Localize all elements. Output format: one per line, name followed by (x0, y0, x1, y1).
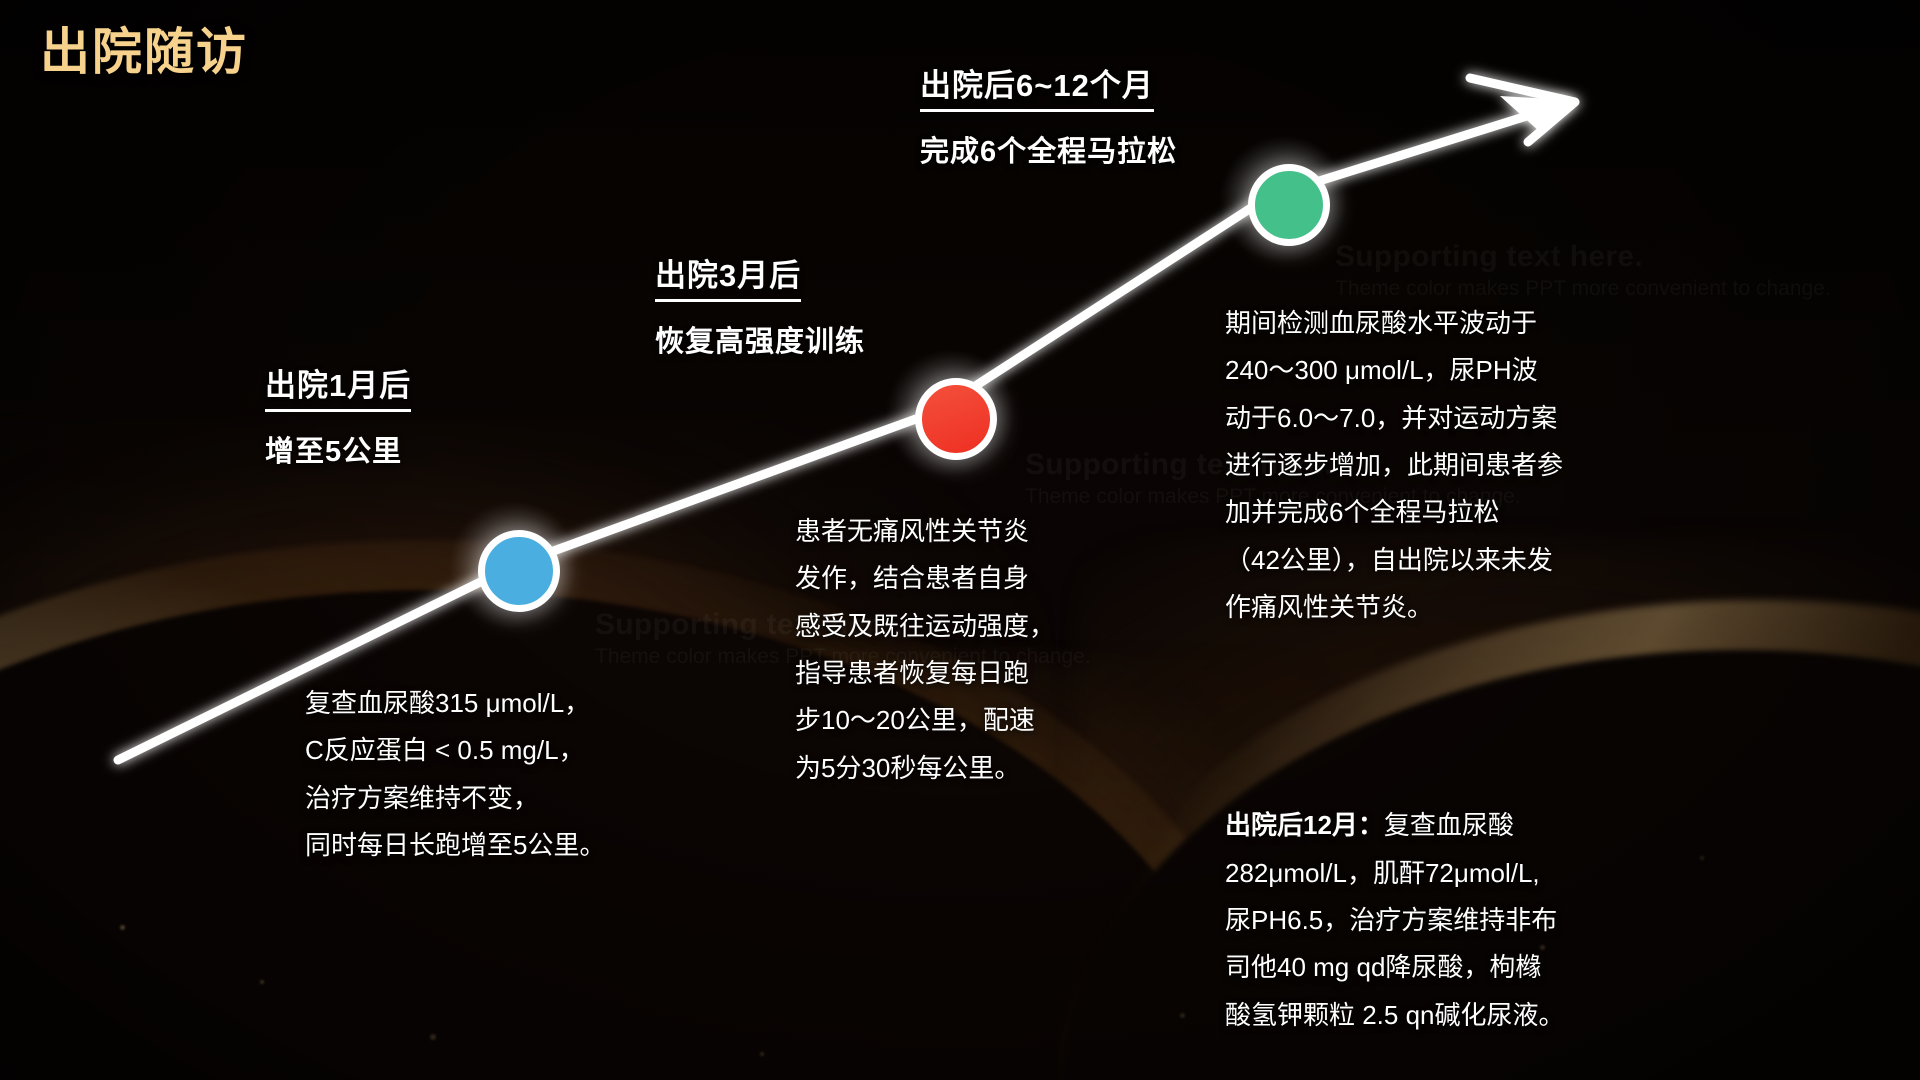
milestone-heading-3: 出院后6~12个月 完成6个全程马拉松 (920, 60, 1177, 170)
followup-body-text: 复查血尿酸 282μmol/L，肌酐72μmol/L, 尿PH6.5，治疗方案维… (1225, 810, 1565, 1029)
milestone-node-1[interactable] (478, 530, 560, 612)
milestone-body-1: 复查血尿酸315 μmol/L， C反应蛋白 < 0.5 mg/L， 治疗方案维… (305, 680, 725, 869)
page-title: 出院随访 (40, 12, 248, 84)
milestone-heading-1: 出院1月后 增至5公里 (265, 360, 411, 470)
milestone-title-2: 出院3月后 (655, 250, 801, 302)
milestone-body-3-followup: 出院后12月：复查血尿酸 282μmol/L，肌酐72μmol/L, 尿PH6.… (1225, 755, 1705, 1039)
milestone-body-3: 期间检测血尿酸水平波动于 240～300 μmol/L，尿PH波 动于6.0～7… (1225, 300, 1705, 631)
presentation-slide: Supporting text here. Theme color makes … (0, 0, 1920, 1080)
milestone-node-2[interactable] (915, 378, 997, 460)
milestone-subtitle-2: 恢复高强度训练 (655, 318, 865, 360)
milestone-node-3[interactable] (1248, 164, 1330, 246)
milestone-title-1: 出院1月后 (265, 360, 411, 412)
milestone-body-2: 患者无痛风性关节炎 发作，结合患者自身 感受及既往运动强度， 指导患者恢复每日跑… (795, 508, 1135, 792)
milestone-heading-2: 出院3月后 恢复高强度训练 (655, 250, 865, 360)
milestone-title-3: 出院后6~12个月 (920, 60, 1154, 112)
milestone-subtitle-1: 增至5公里 (265, 428, 411, 470)
milestone-subtitle-3: 完成6个全程马拉松 (920, 128, 1177, 170)
followup-lead-label: 出院后12月： (1225, 810, 1384, 840)
